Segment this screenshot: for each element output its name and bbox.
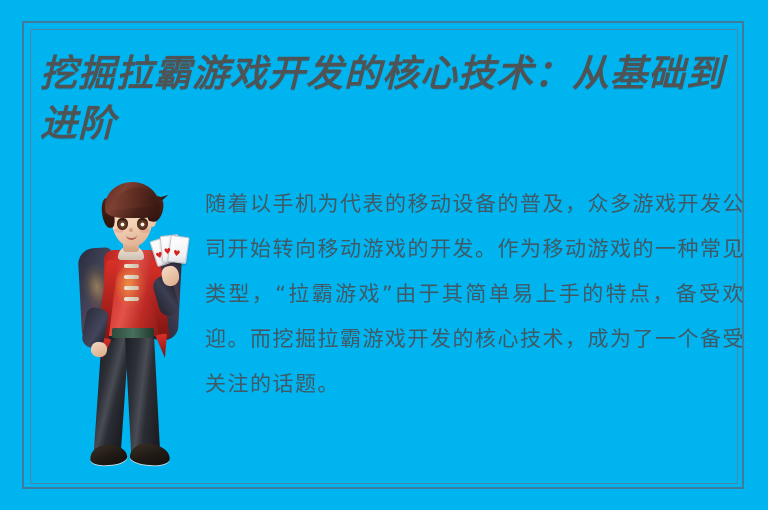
heart-suit-icon: ♥ [164, 248, 172, 257]
heart-suit-icon: ♥ [172, 250, 180, 259]
character-belt [112, 328, 154, 338]
character-left-eye [117, 218, 128, 230]
character-right-leg [125, 327, 161, 458]
shirt-frog-button [124, 264, 139, 268]
character-illustration: ♥ ♥ ♥ [54, 168, 214, 468]
character-right-shoe [129, 443, 170, 467]
shirt-frog-button [124, 297, 139, 301]
shirt-frog-button [124, 286, 139, 290]
banner-title: 挖掘拉霸游戏开发的核心技术：从基础到进阶 [40, 48, 740, 148]
character-nose [129, 228, 133, 232]
shirt-frog-button [124, 275, 139, 279]
promotional-banner: 挖掘拉霸游戏开发的核心技术：从基础到进阶 随着以手机为代表的移动设备的普及，众多… [0, 0, 768, 510]
banner-body-text: 随着以手机为代表的移动设备的普及，众多游戏开发公司开始转向移动游戏的开发。作为移… [205, 182, 745, 407]
character-right-eye [137, 218, 148, 230]
